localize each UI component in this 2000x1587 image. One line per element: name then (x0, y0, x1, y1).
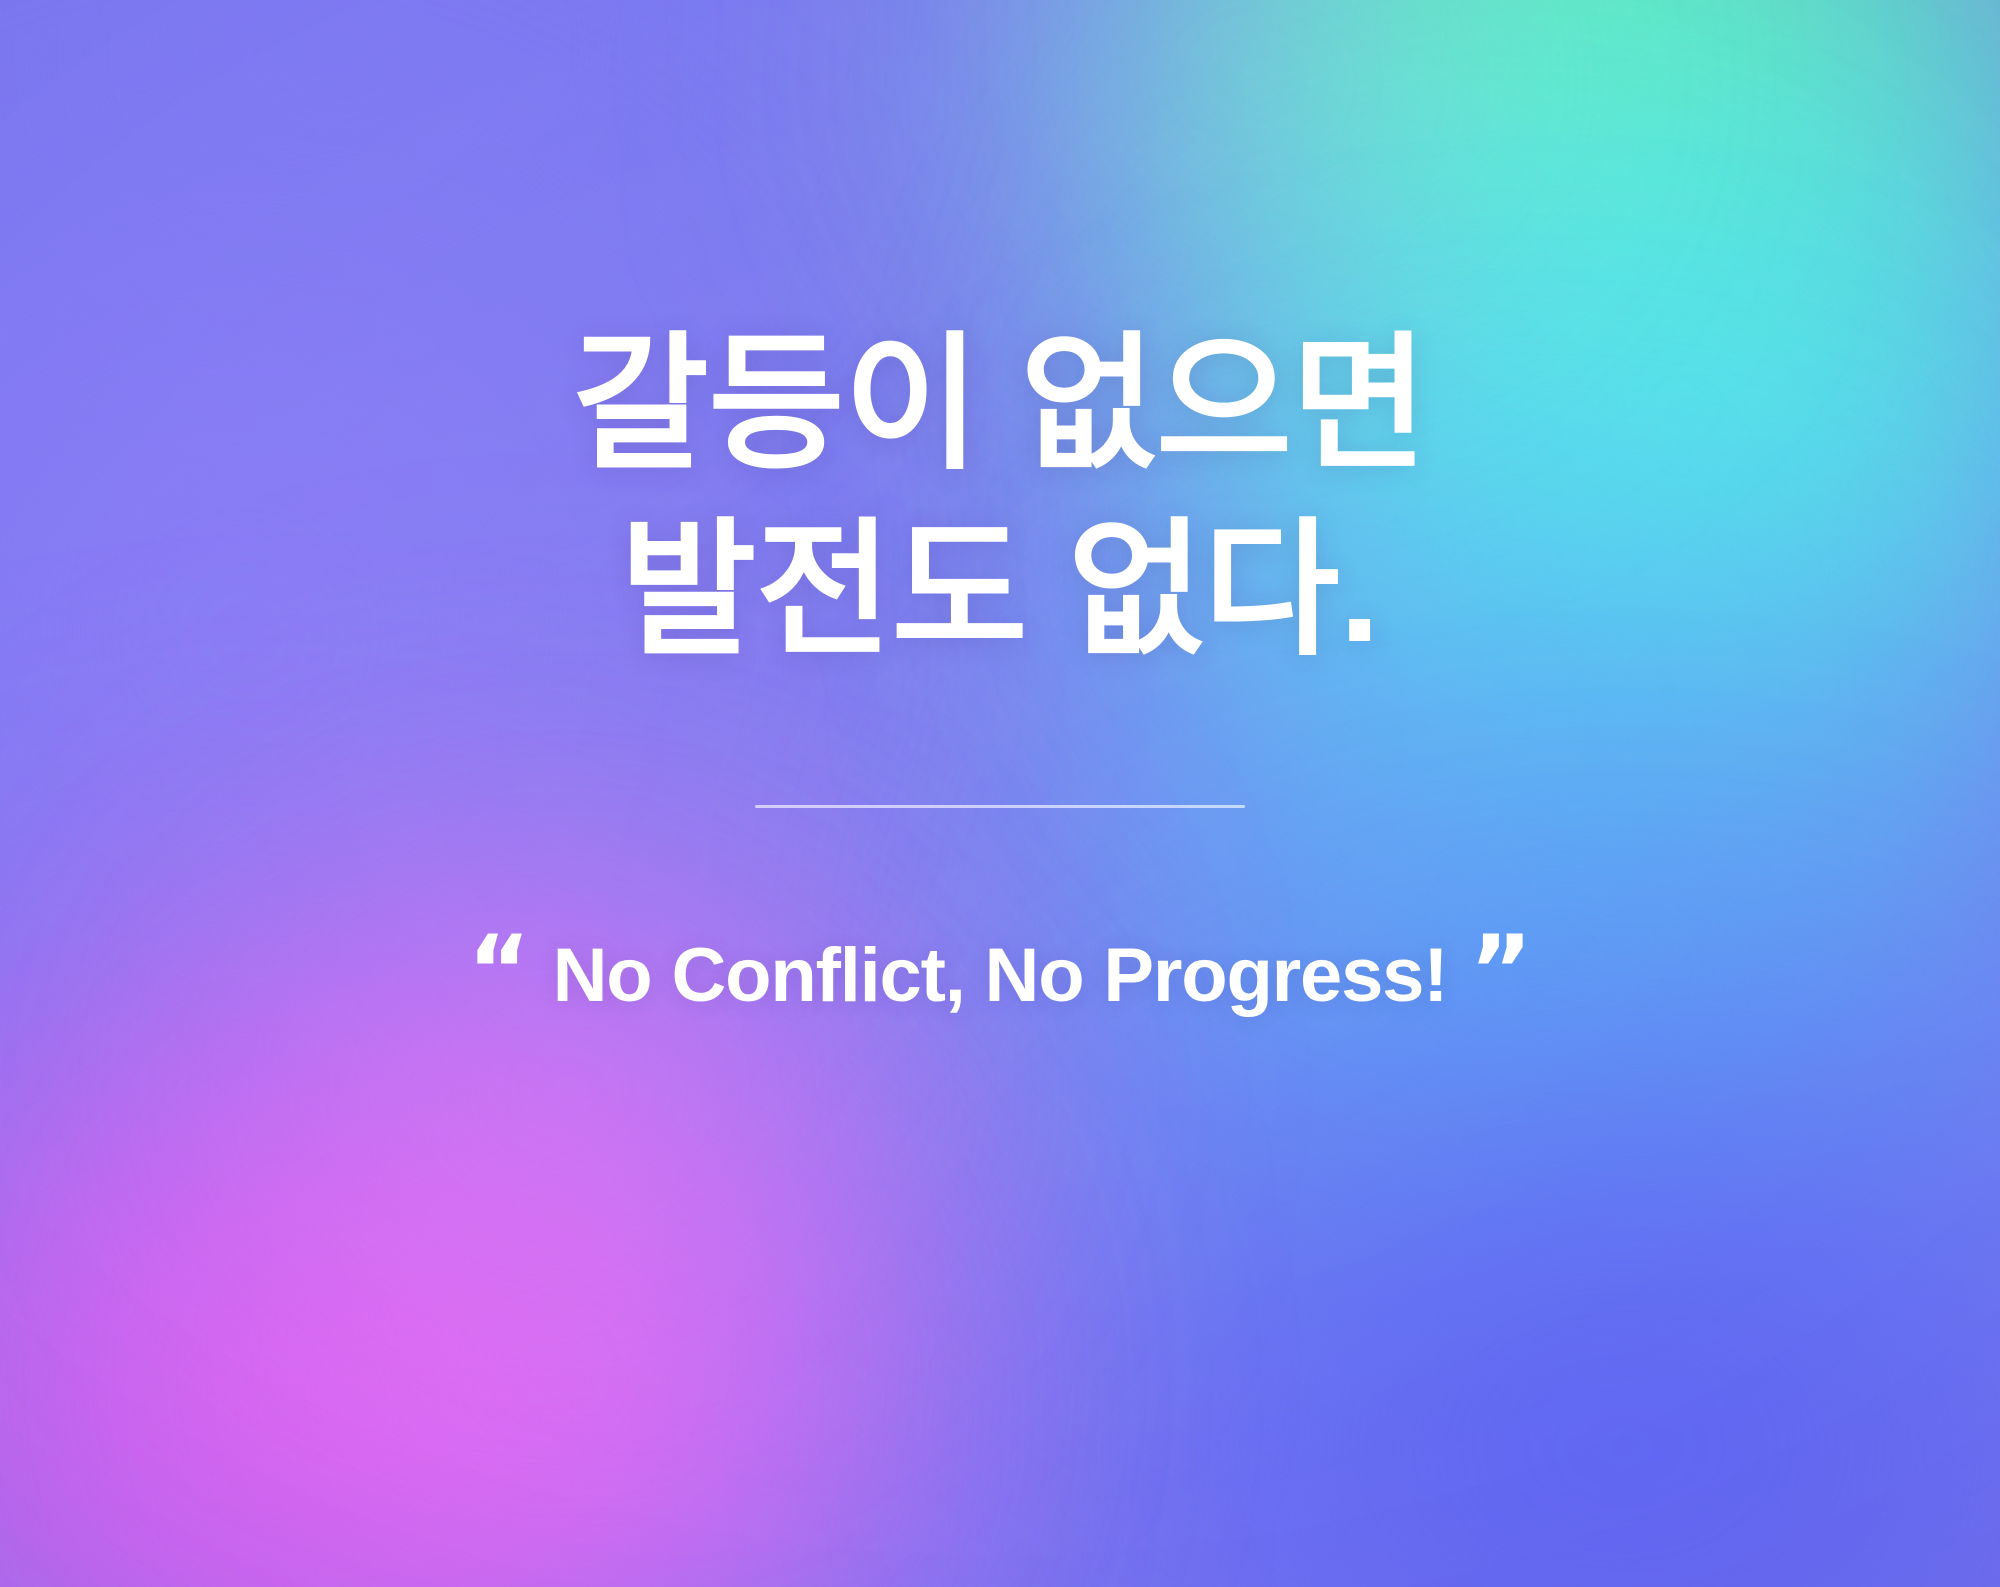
subtitle-block: “ No Conflict, No Progress! ” (468, 936, 1533, 1016)
card-content: 갈등이 없으면 발전도 없다. “ No Conflict, No Progre… (0, 0, 2000, 1587)
headline-line-1: 갈등이 없으면 (573, 312, 1428, 498)
quote-open-icon: “ (468, 932, 531, 1011)
page-title: 갈등이 없으면 발전도 없다. (573, 312, 1428, 685)
divider (755, 805, 1245, 808)
quote-card: 갈등이 없으면 발전도 없다. “ No Conflict, No Progre… (0, 0, 2000, 1587)
quote-close-icon: ” (1469, 932, 1532, 1011)
headline-block: 갈등이 없으면 발전도 없다. (573, 312, 1428, 685)
subtitle-text: No Conflict, No Progress! (553, 936, 1448, 1016)
headline-line-2: 발전도 없다. (573, 498, 1428, 684)
